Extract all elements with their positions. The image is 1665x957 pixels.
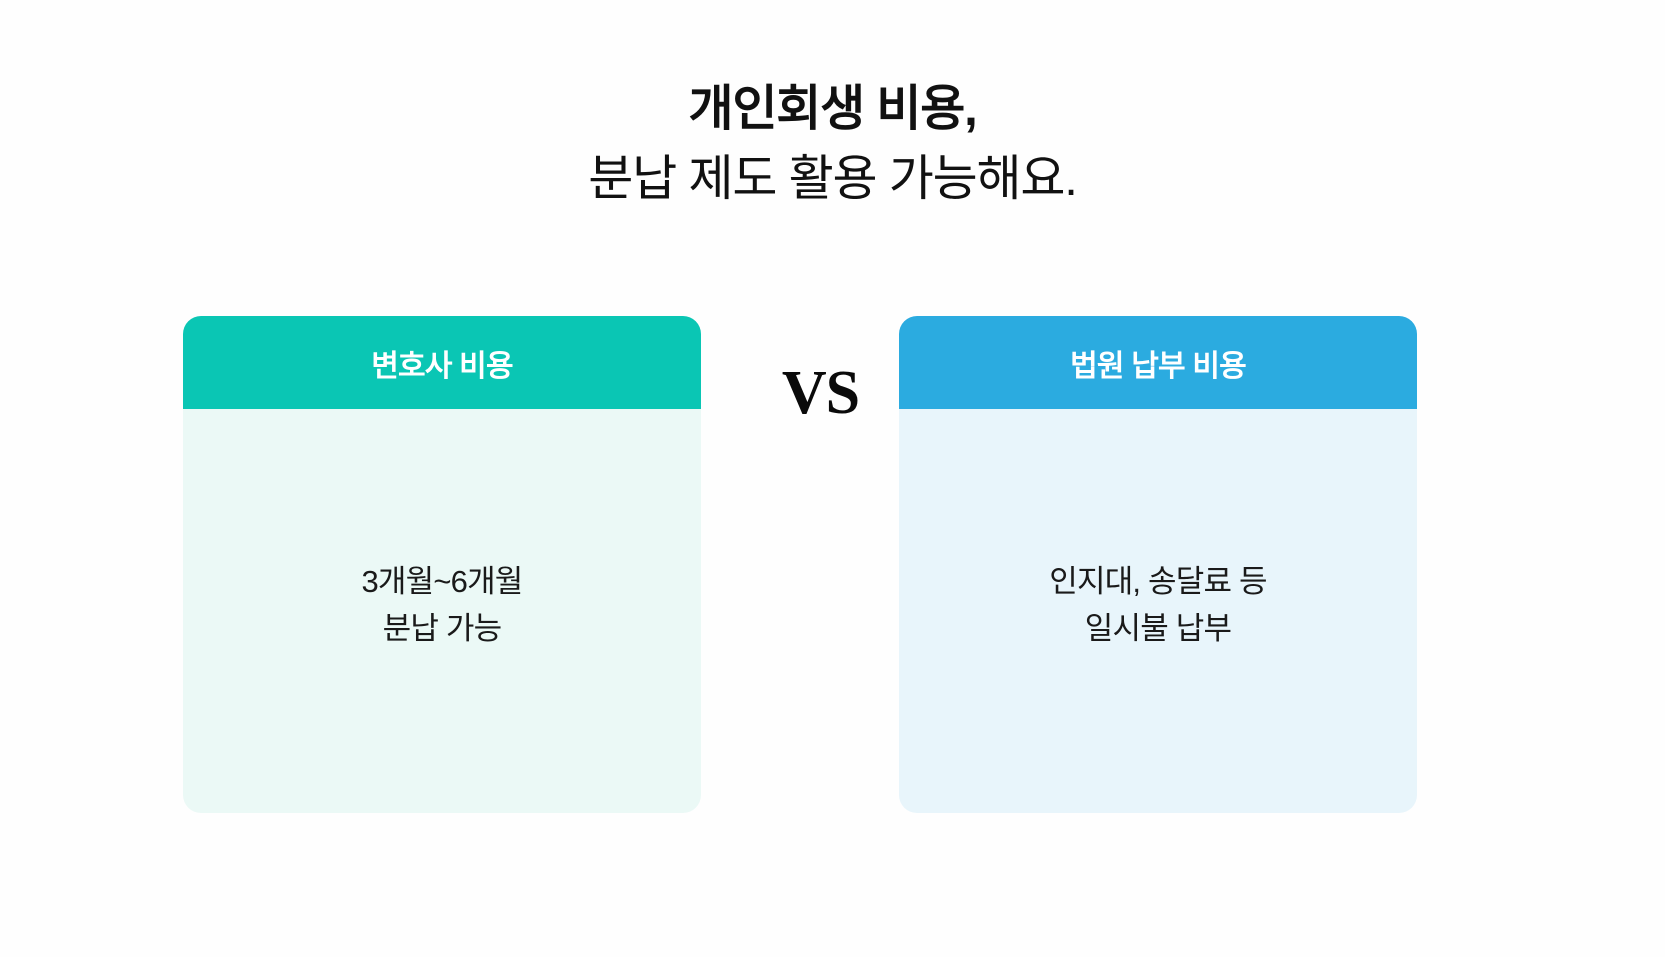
card-body-lawyer-fee: 3개월~6개월 분납 가능 xyxy=(183,409,701,813)
infographic-page: 개인회생 비용, 분납 제도 활용 가능해요. 변호사 비용 3개월~6개월 분… xyxy=(0,0,1665,957)
page-title-line-1: 개인회생 비용, xyxy=(0,78,1665,142)
comparison-card-lawyer-fee: 변호사 비용 3개월~6개월 분납 가능 xyxy=(183,316,701,813)
card-body-court-fee: 인지대, 송달료 등 일시불 납부 xyxy=(899,409,1417,813)
card-header-court-fee: 법원 납부 비용 xyxy=(899,316,1417,409)
card-body-text-lawyer-fee: 3개월~6개월 분납 가능 xyxy=(361,558,522,652)
comparison-card-court-fee: 법원 납부 비용 인지대, 송달료 등 일시불 납부 xyxy=(899,316,1417,813)
card-body-line-2-court-fee: 일시불 납부 xyxy=(1049,605,1266,652)
card-header-lawyer-fee: 변호사 비용 xyxy=(183,316,701,409)
page-title-line-2: 분납 제도 활용 가능해요. xyxy=(0,148,1665,212)
card-body-line-1-court-fee: 인지대, 송달료 등 xyxy=(1049,558,1266,605)
card-body-line-2-lawyer-fee: 분납 가능 xyxy=(361,605,522,652)
card-body-line-1-lawyer-fee: 3개월~6개월 xyxy=(361,558,522,605)
card-body-text-court-fee: 인지대, 송달료 등 일시불 납부 xyxy=(1049,558,1266,652)
vs-label: VS xyxy=(742,358,899,429)
page-title: 개인회생 비용, 분납 제도 활용 가능해요. xyxy=(0,78,1665,211)
comparison-row: 변호사 비용 3개월~6개월 분납 가능 VS 법원 납부 비용 인지대, 송달… xyxy=(0,316,1665,816)
